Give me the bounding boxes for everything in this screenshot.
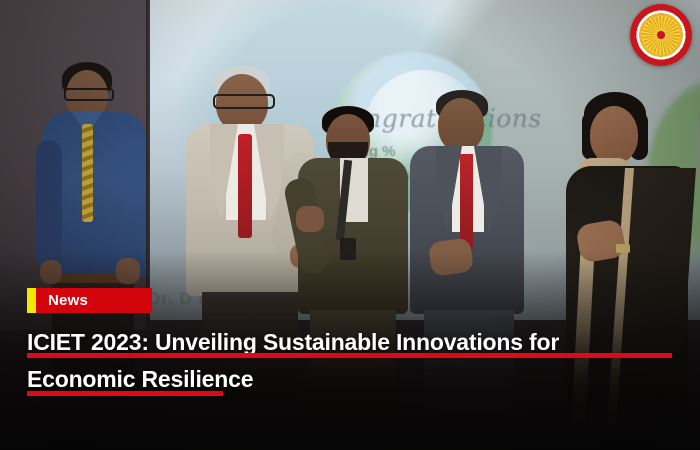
article-headline[interactable]: ICIET 2023: Unveiling Sustainable Innova… [27, 330, 675, 405]
category-badge[interactable]: News [27, 288, 152, 313]
headline-line-2: Economic Resilience [27, 367, 675, 395]
badge-accent-bar [27, 288, 36, 313]
news-card: Congratulations being % entific World Dr… [0, 0, 700, 450]
headline-line-1: ICIET 2023: Unveiling Sustainable Innova… [27, 330, 675, 358]
university-crest-logo[interactable] [630, 4, 692, 66]
badge-label: News [36, 288, 152, 313]
logo-center-dot [654, 28, 668, 42]
